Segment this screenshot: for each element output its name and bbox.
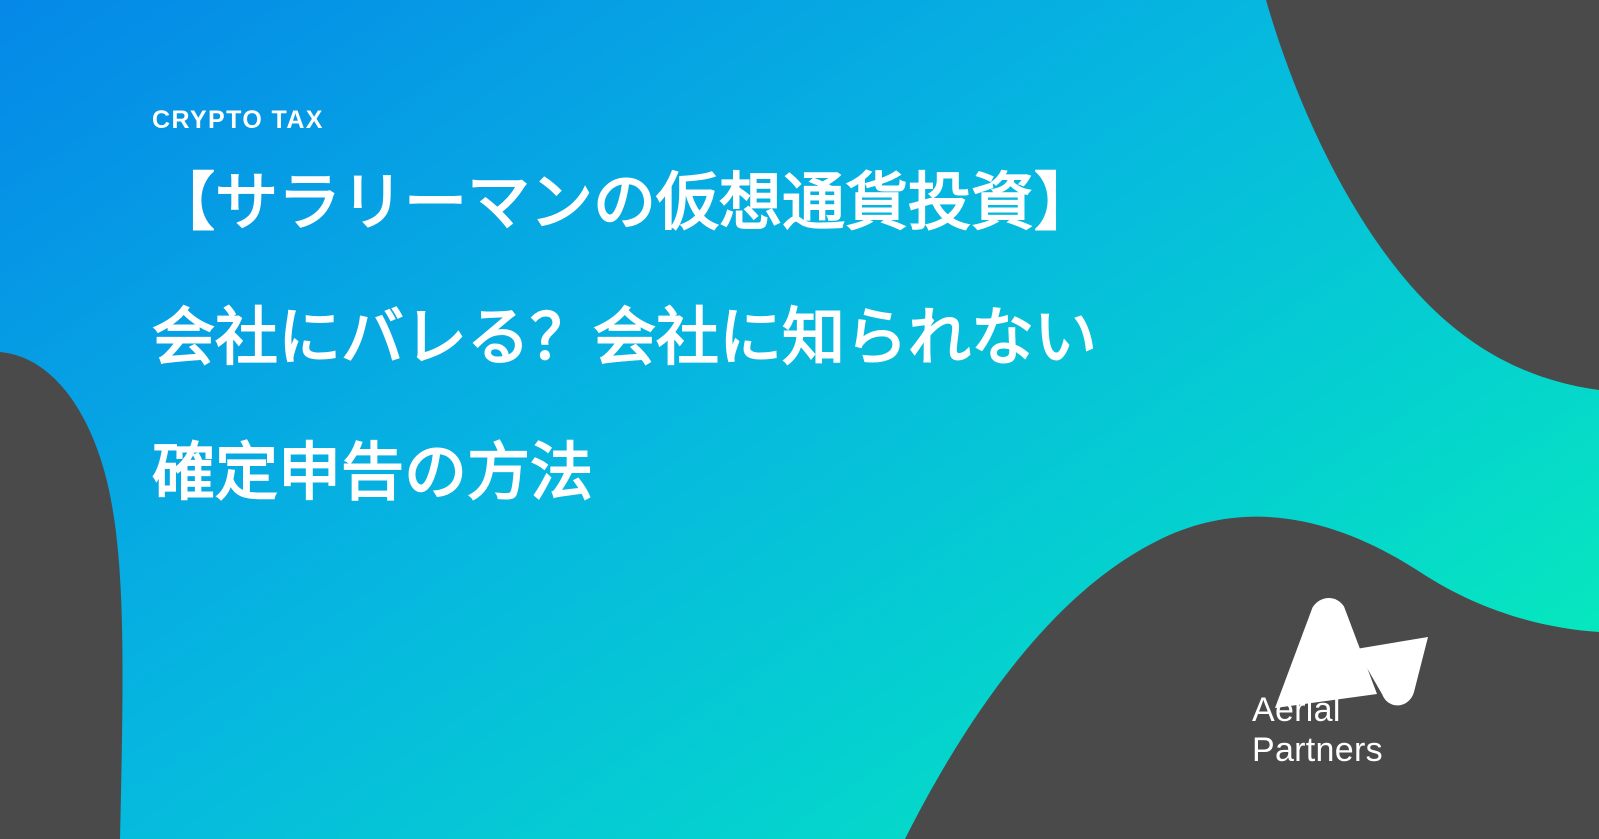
category-eyebrow: CRYPTO TAX (152, 108, 1372, 133)
page-title-line-1: 【サラリーマンの仮想通貨投資】 (152, 172, 1372, 235)
article-banner: CRYPTO TAX 【サラリーマンの仮想通貨投資】 会社にバレる？会社に知られ… (0, 0, 1599, 839)
logo-wordmark-line-1: Aerial (1252, 690, 1383, 730)
logo-wordmark: Aerial Partners (1252, 690, 1383, 770)
page-title-line-2: 会社にバレる？会社に知られない (152, 307, 1372, 370)
logo-wordmark-line-2: Partners (1252, 730, 1383, 770)
aerial-partners-logo: Aerial Partners (1248, 597, 1438, 767)
page-title-line-3: 確定申告の方法 (152, 442, 1372, 505)
banner-content: CRYPTO TAX 【サラリーマンの仮想通貨投資】 会社にバレる？会社に知られ… (152, 108, 1372, 505)
page-title: 【サラリーマンの仮想通貨投資】 会社にバレる？会社に知られない 確定申告の方法 (152, 172, 1372, 505)
